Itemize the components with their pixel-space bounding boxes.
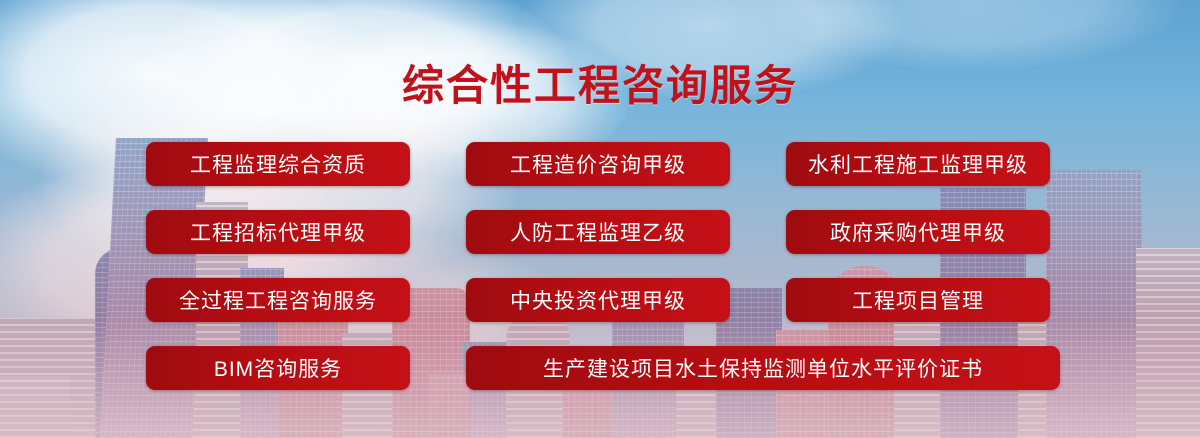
qualification-row: BIM咨询服务 生产建设项目水土保持监测单位水平评价证书 bbox=[146, 346, 1060, 390]
qualification-row: 工程监理综合资质 工程造价咨询甲级 水利工程施工监理甲级 bbox=[146, 142, 1060, 186]
banner-content: 综合性工程咨询服务 工程监理综合资质 工程造价咨询甲级 水利工程施工监理甲级 工… bbox=[0, 0, 1200, 438]
qualification-badge[interactable]: 人防工程监理乙级 bbox=[466, 210, 730, 254]
qualification-badge[interactable]: BIM咨询服务 bbox=[146, 346, 410, 390]
qualification-grid: 工程监理综合资质 工程造价咨询甲级 水利工程施工监理甲级 工程招标代理甲级 人防… bbox=[146, 142, 1060, 390]
promo-banner: 综合性工程咨询服务 工程监理综合资质 工程造价咨询甲级 水利工程施工监理甲级 工… bbox=[0, 0, 1200, 438]
qualification-badge[interactable]: 生产建设项目水土保持监测单位水平评价证书 bbox=[466, 346, 1060, 390]
qualification-badge[interactable]: 工程监理综合资质 bbox=[146, 142, 410, 186]
qualification-badge[interactable]: 全过程工程咨询服务 bbox=[146, 278, 410, 322]
page-title: 综合性工程咨询服务 bbox=[0, 52, 1200, 113]
qualification-badge[interactable]: 工程项目管理 bbox=[786, 278, 1050, 322]
qualification-badge[interactable]: 工程造价咨询甲级 bbox=[466, 142, 730, 186]
qualification-badge[interactable]: 政府采购代理甲级 bbox=[786, 210, 1050, 254]
qualification-row: 全过程工程咨询服务 中央投资代理甲级 工程项目管理 bbox=[146, 278, 1060, 322]
qualification-badge[interactable]: 水利工程施工监理甲级 bbox=[786, 142, 1050, 186]
qualification-badge[interactable]: 工程招标代理甲级 bbox=[146, 210, 410, 254]
qualification-row: 工程招标代理甲级 人防工程监理乙级 政府采购代理甲级 bbox=[146, 210, 1060, 254]
qualification-badge[interactable]: 中央投资代理甲级 bbox=[466, 278, 730, 322]
